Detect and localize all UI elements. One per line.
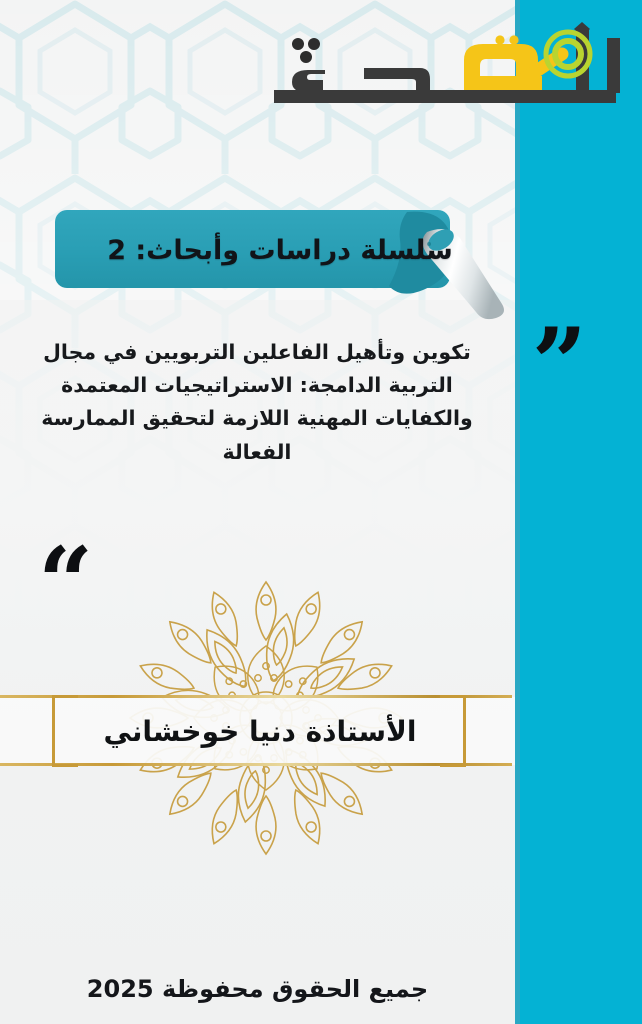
series-banner-label: سلسلة دراسات وأبحاث: 2 (70, 214, 490, 286)
author-name: الأستاذة دنيا خوخشاني (40, 700, 480, 762)
quote-close-icon: ” (532, 316, 587, 412)
teal-side-column (515, 0, 642, 1024)
brand-logo (268, 12, 628, 124)
book-title: تكوين وتأهيل الفاعلين التربويين في مجال … (24, 336, 490, 469)
quote-open-icon: “ (38, 535, 93, 631)
copyright-footer: جميع الحقوق محفوظة 2025 (0, 975, 515, 1003)
book-cover: سلسلة دراسات وأبحاث: 2 ” “ تكوين وتأهيل … (0, 0, 642, 1024)
